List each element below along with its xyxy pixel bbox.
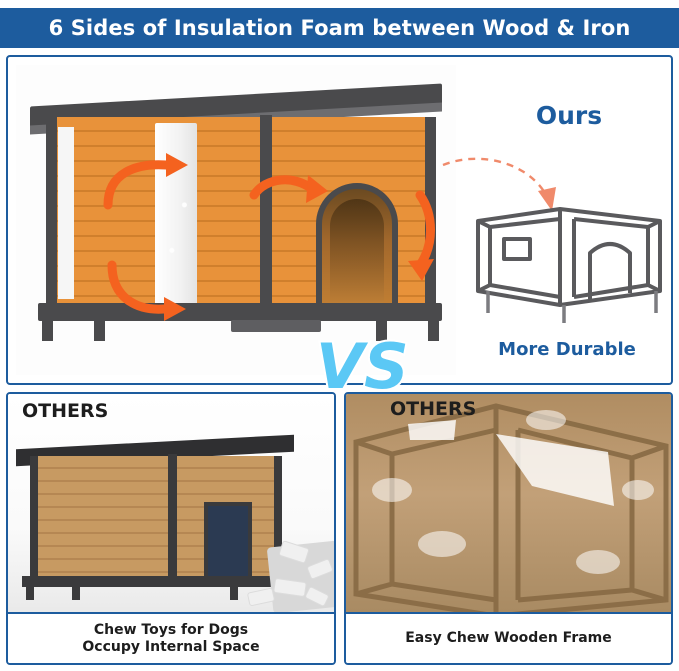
- wooden-frame-icon: [346, 394, 671, 616]
- door-flap: [330, 199, 384, 305]
- others-tag-overlay: OTHERS: [390, 398, 476, 420]
- others-house-leg: [72, 586, 80, 600]
- caption-line-1: Easy Chew Wooden Frame: [405, 630, 612, 647]
- house-leg: [376, 319, 387, 341]
- house-door: [316, 183, 398, 311]
- others-chew-toys-panel: OTHERS Chew Toys for Dogs Occupy Interna…: [6, 392, 336, 665]
- others-house-leg: [26, 586, 34, 600]
- ours-panel: Ours: [6, 55, 673, 385]
- header-banner: 6 Sides of Insulation Foam between Wood …: [0, 8, 679, 48]
- bottom-right-caption: Easy Chew Wooden Frame: [346, 612, 671, 663]
- iron-frame-image: [464, 187, 670, 327]
- iron-frame-icon: [464, 187, 670, 327]
- house-tray: [231, 320, 321, 332]
- caption-line-2: Occupy Internal Space: [82, 639, 259, 656]
- house-leg: [428, 319, 439, 341]
- product-infographic: 6 Sides of Insulation Foam between Wood …: [0, 0, 679, 671]
- others-wooden-frame-panel: Easy Chew Wooden Frame: [344, 392, 673, 665]
- bottom-left-caption: Chew Toys for Dogs Occupy Internal Space: [8, 612, 334, 663]
- more-durable-label: More Durable: [464, 339, 670, 360]
- others-house-leg: [230, 586, 238, 600]
- insulation-foam-panel: [155, 123, 197, 305]
- others-house-post: [168, 454, 177, 582]
- insulation-foam-left: [58, 127, 74, 299]
- caption-line-1: Chew Toys for Dogs: [94, 622, 248, 639]
- others-tag: OTHERS: [22, 400, 108, 422]
- others-dog-house-image: [8, 394, 334, 616]
- ours-label: Ours: [474, 101, 664, 130]
- house-center-post: [260, 115, 272, 311]
- house-leg: [42, 319, 53, 341]
- insulated-dog-house-image: [16, 65, 456, 375]
- house-leg: [94, 319, 105, 341]
- others-house-door: [204, 502, 252, 580]
- page-title: 6 Sides of Insulation Foam between Wood …: [49, 16, 631, 40]
- wooden-frame-image: [346, 394, 671, 616]
- others-house-base: [22, 576, 290, 587]
